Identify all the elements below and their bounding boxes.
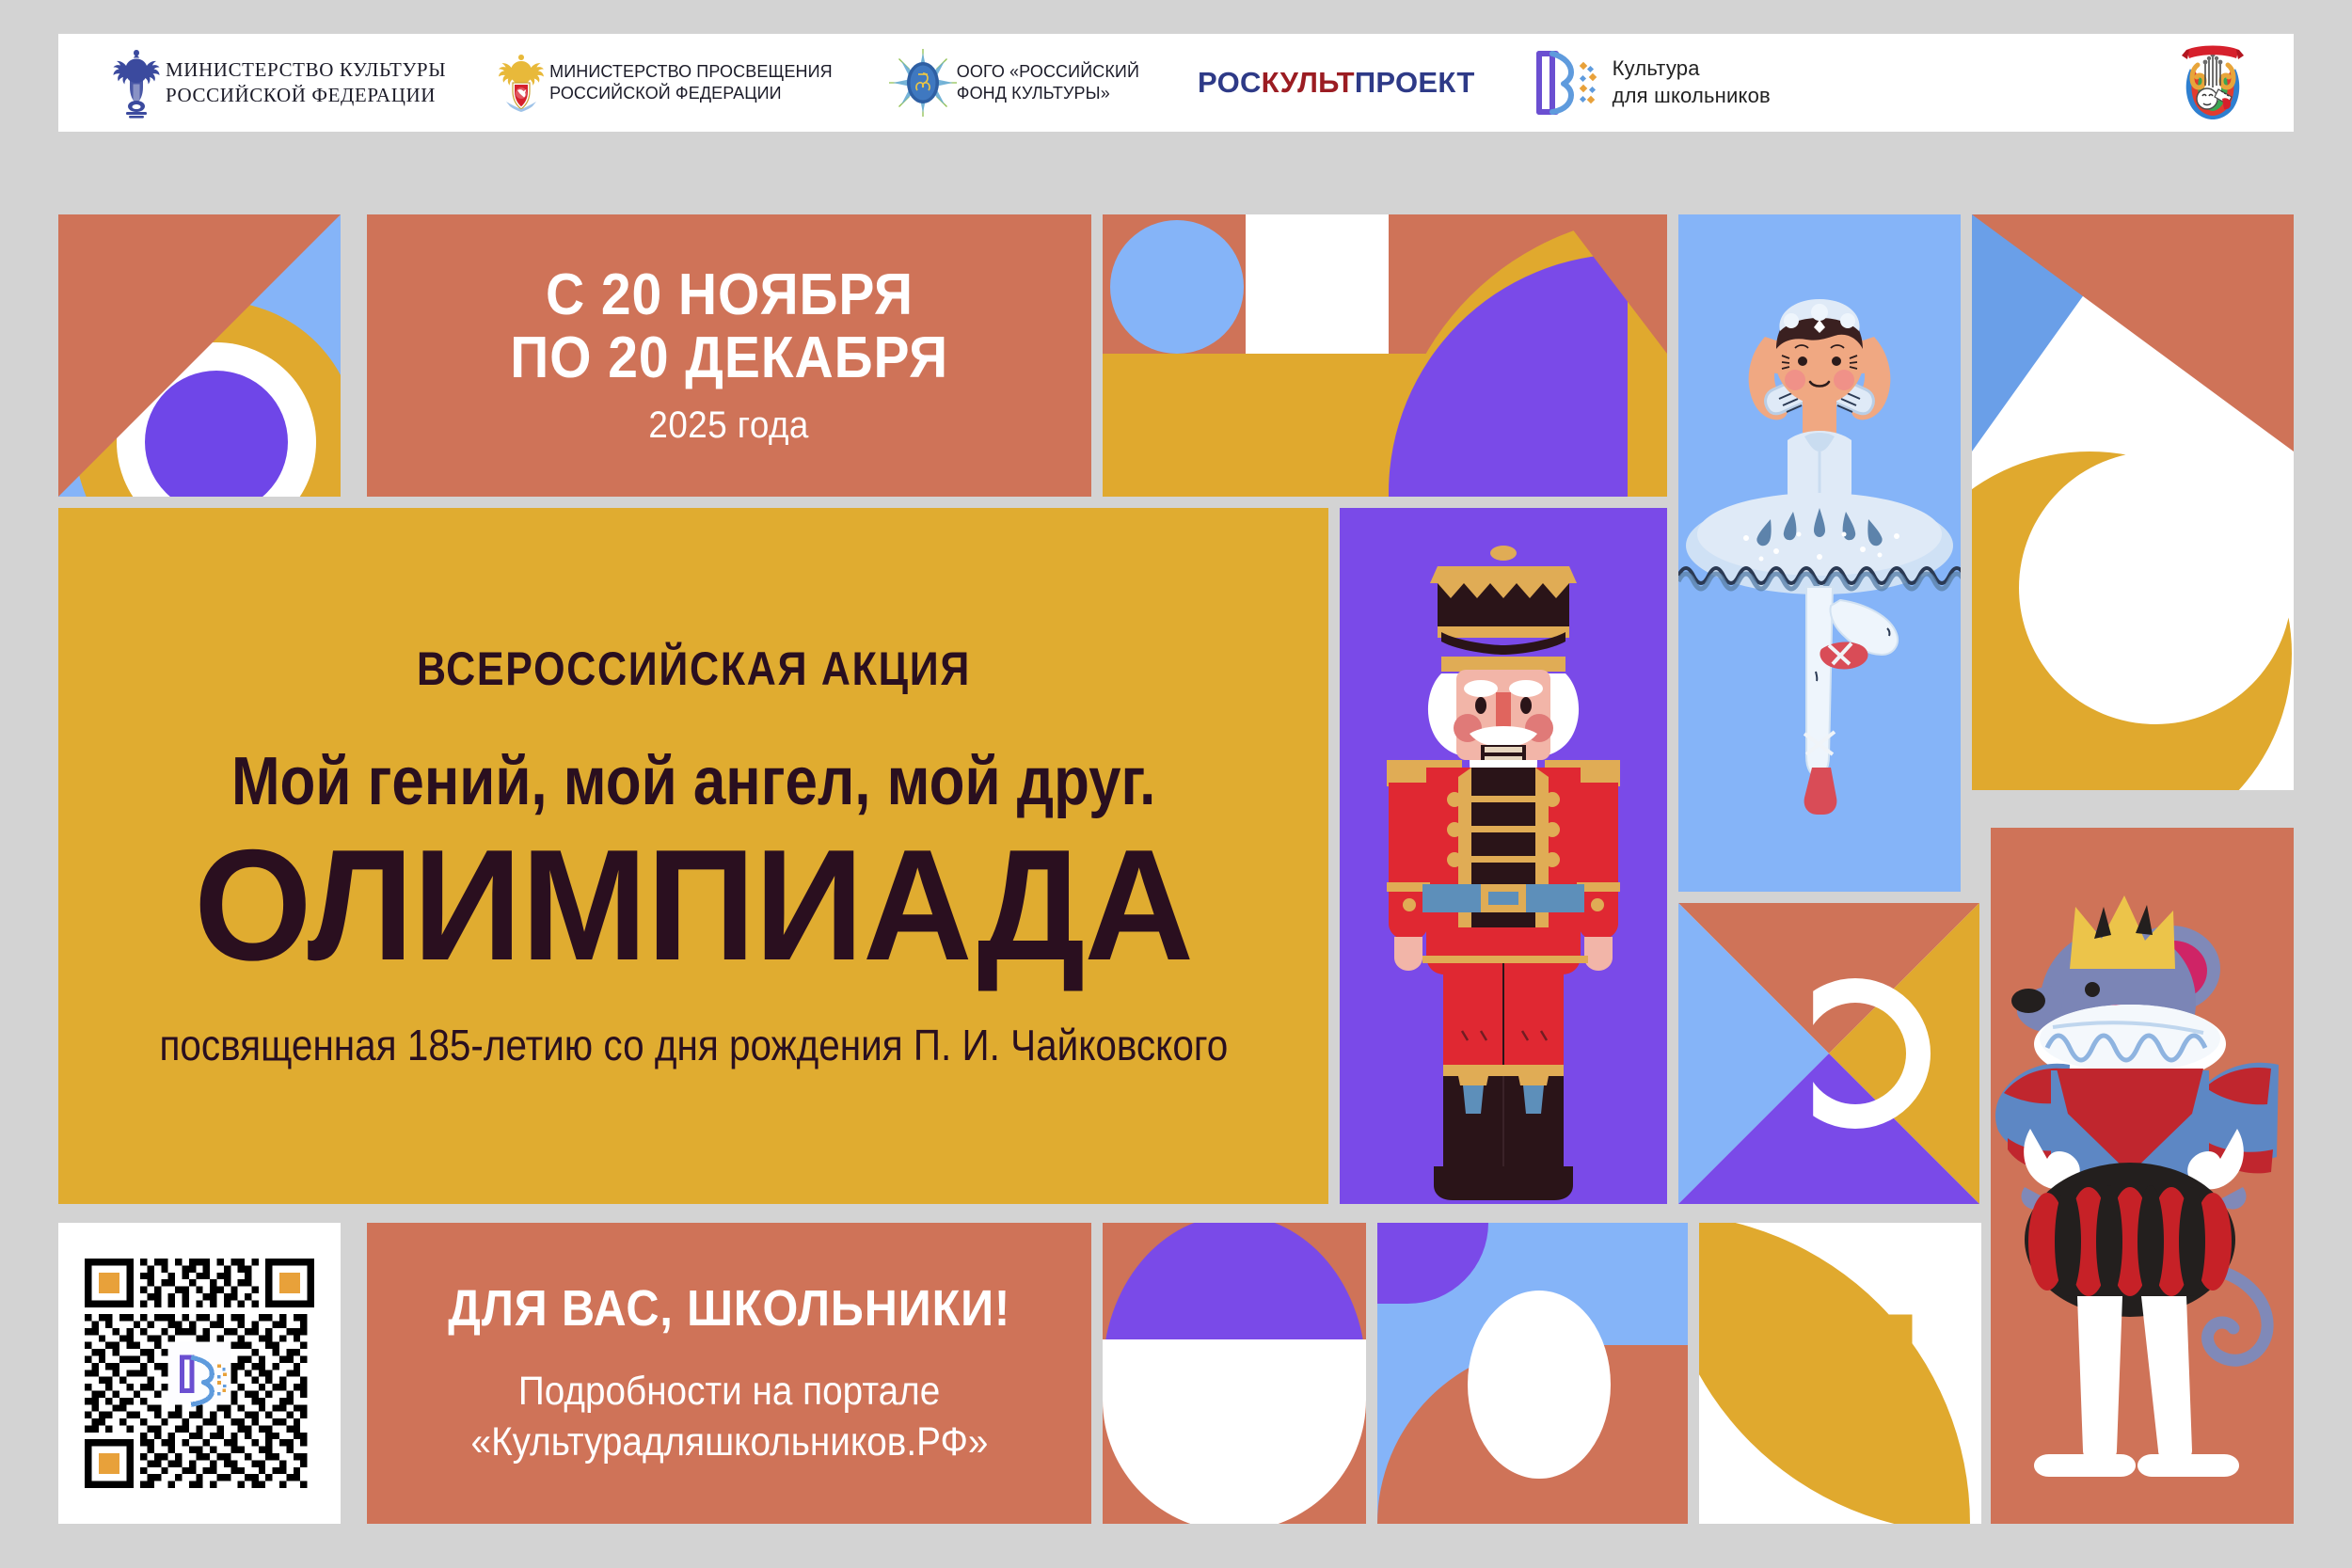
decor-block-top-left (58, 214, 341, 497)
roskultproekt-part2: КУЛЬТ (1262, 66, 1355, 99)
ballerina-illustration (1678, 214, 1961, 892)
logo-russian-culture-fund-label: ООГО «РОССИЙСКИЙ ФОНД КУЛЬТУРЫ» (957, 61, 1139, 104)
logo-ministry-of-culture: МИНИСТЕРСТВО КУЛЬТУРЫ РОССИЙСКОЙ ФЕДЕРАЦ… (107, 34, 446, 132)
gold-leaf-shape (1699, 1223, 1970, 1524)
campaign-kicker: ВСЕРОССИЙСКАЯ АКЦИЯ (416, 641, 970, 696)
decor-block-bottom-1 (1103, 1223, 1366, 1524)
ballerina-figure (1678, 214, 1961, 892)
date-line-2: ПО 20 ДЕКАБРЯ (510, 327, 948, 389)
decor-block-bottom-2 (1377, 1223, 1688, 1524)
date-line-1: С 20 НОЯБРЯ (546, 264, 914, 326)
campaign-title: ОЛИМПИАДА (194, 826, 1193, 984)
russian-double-headed-eagle-lyre-emblem (107, 46, 166, 119)
qr-code[interactable] (58, 1223, 341, 1524)
orange-triangle (1972, 214, 2294, 451)
lyre-mask-piano-emblem (2169, 40, 2256, 125)
date-block: С 20 НОЯБРЯ ПО 20 ДЕКАБРЯ 2025 года (367, 214, 1091, 497)
cta-heading: ДЛЯ ВАС, ШКОЛЬНИКИ! (448, 1279, 1010, 1338)
decor-block-bottom-3 (1699, 1223, 1981, 1524)
decor-block-top-right (1972, 214, 2294, 451)
logo-culture-for-schoolchildren: Культура для школьников (1532, 34, 1771, 132)
decor-block-top-middle (1103, 214, 1667, 497)
cta-portal-name: «Культурадляшкольников.РФ» (470, 1417, 988, 1467)
nutcracker-illustration (1340, 508, 1667, 1204)
mouse-king-figure (1991, 828, 2294, 1524)
poster-canvas: МИНИСТЕРСТВО КУЛЬТУРЫ РОССИЙСКОЙ ФЕДЕРАЦ… (0, 0, 2352, 1568)
white-oval (1468, 1291, 1611, 1479)
white-inner-circle (2019, 451, 2292, 724)
kds-bracket-logo (1532, 48, 1599, 118)
roskultproekt-part1: РОС (1198, 66, 1262, 99)
decor-block-right-arc (1972, 451, 2294, 790)
logo-ministry-of-education: МИНИСТЕРСТВО ПРОСВЕЩЕНИЯ РОССИЙСКОЙ ФЕДЕ… (493, 34, 833, 132)
white-half-ellipse (1103, 1339, 1366, 1524)
logo-culture-for-schoolchildren-label: Культура для школьников (1613, 55, 1771, 109)
main-title-block: ВСЕРОССИЙСКАЯ АКЦИЯ Мой гений, мой ангел… (58, 508, 1328, 1204)
campaign-tagline: Мой гений, мой ангел, мой друг. (231, 743, 1155, 820)
logo-ministry-of-education-label: МИНИСТЕРСТВО ПРОСВЕЩЕНИЯ РОССИЙСКОЙ ФЕДЕ… (549, 61, 833, 104)
partner-logo-bar: МИНИСТЕРСТВО КУЛЬТУРЫ РОССИЙСКОЙ ФЕДЕРАЦ… (58, 34, 2294, 132)
logo-roskultproekt-label: РОСКУЛЬТПРОЕКТ (1198, 66, 1475, 100)
logo-roskultproekt: РОСКУЛЬТПРОЕКТ (1198, 34, 1475, 132)
logo-ministry-of-culture-label: МИНИСТЕРСТВО КУЛЬТУРЫ РОССИЙСКОЙ ФЕДЕРАЦ… (166, 57, 446, 108)
russian-coat-of-arms-emblem (493, 49, 549, 117)
campaign-dedication: посвященная 185-летию со дня рождения П.… (159, 1020, 1228, 1070)
mouse-king-illustration (1991, 828, 2294, 1524)
blue-circle (1110, 220, 1244, 354)
white-square (1246, 214, 1389, 354)
starburst-monogram-emblem (889, 49, 957, 117)
nutcracker-figure (1340, 508, 1667, 1204)
logo-music-school-tchaikovsky (2169, 34, 2256, 132)
decor-block-quad-triangles (1678, 903, 1979, 1204)
schoolchildren-cta-block: ДЛЯ ВАС, ШКОЛЬНИКИ! Подробности на порта… (367, 1223, 1091, 1524)
logo-russian-culture-fund: ООГО «РОССИЙСКИЙ ФОНД КУЛЬТУРЫ» (889, 34, 1139, 132)
cta-sub-line-1: Подробности на портале (518, 1366, 940, 1417)
date-year: 2025 года (649, 404, 809, 447)
roskultproekt-part3: ПРОЕКТ (1355, 66, 1475, 99)
qr-code-graphic[interactable] (85, 1259, 314, 1488)
orange-triangle (58, 214, 341, 497)
purple-corner (1377, 1223, 1488, 1304)
